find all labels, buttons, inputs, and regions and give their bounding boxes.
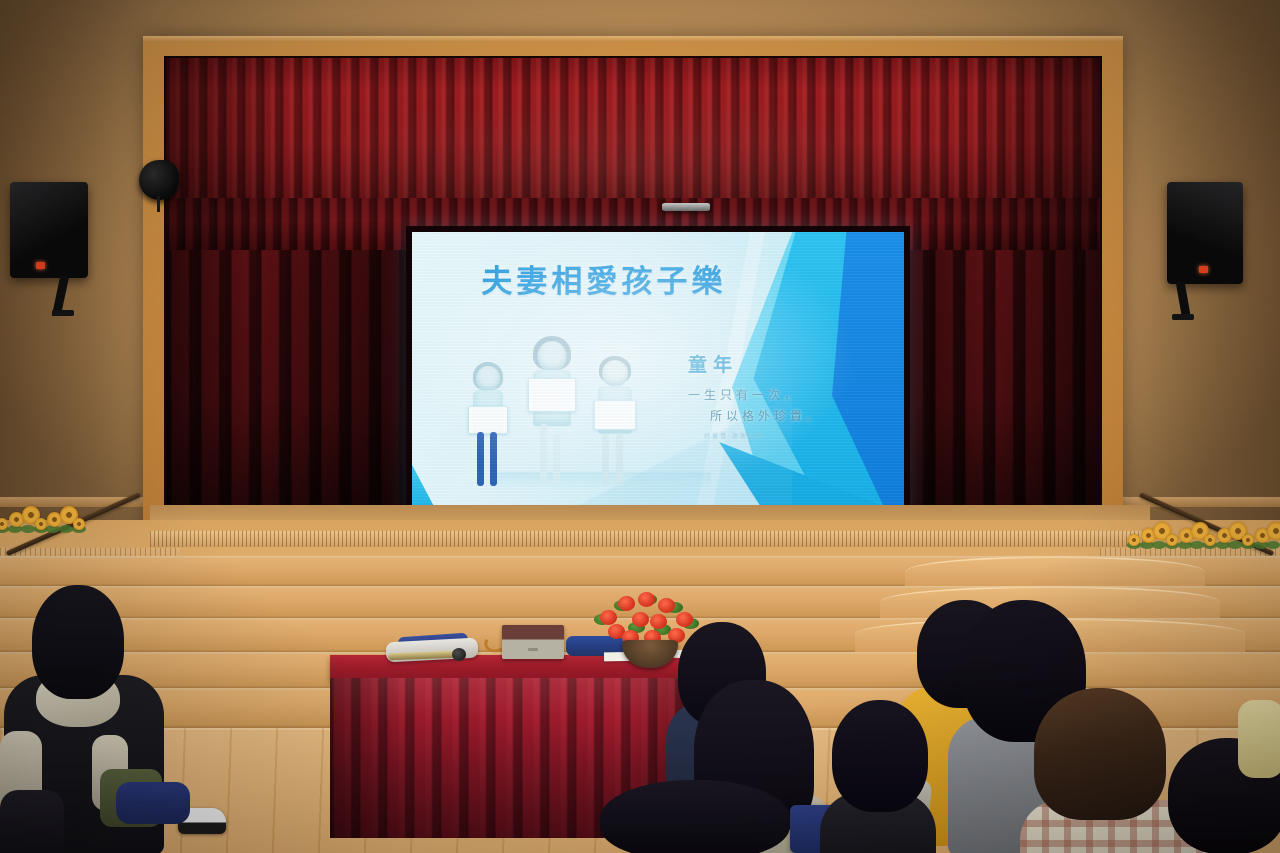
proscenium-highlight — [143, 36, 1123, 42]
ceiling-light-fixture — [662, 203, 710, 211]
center-riser-top — [905, 556, 1205, 586]
child-center — [522, 336, 582, 486]
flower-leaf — [21, 525, 35, 533]
slide-quote-credit: 好童懂·謝謝童真 — [704, 431, 838, 440]
child-center-head — [538, 341, 567, 371]
slide-quote-line1: 一生只有一次， — [688, 386, 838, 403]
flower-bloom — [35, 518, 47, 530]
audience-member-10 — [600, 780, 790, 853]
flower-bloom — [1204, 534, 1216, 546]
child-right-card — [594, 400, 636, 430]
flower-bloom — [1267, 522, 1280, 540]
table-item-laptop — [502, 625, 564, 659]
table-item-laptop-logo — [528, 648, 538, 651]
bouquet-flower — [638, 592, 655, 607]
curtain-valance-shading — [166, 58, 1100, 198]
slide-photo-children — [460, 336, 650, 486]
speaker-left — [10, 182, 88, 278]
child-left-card — [468, 406, 508, 434]
child-left-leg-r — [490, 432, 497, 486]
child-right-leg-r — [616, 434, 623, 486]
bouquet-flower — [658, 598, 675, 613]
stage-apron-trim — [150, 531, 1150, 547]
flower-leaf — [1266, 541, 1280, 549]
slide-title: 夫妻相愛孩子樂 — [412, 256, 796, 301]
bouquet-flower — [618, 596, 635, 611]
child-left — [464, 362, 512, 486]
speaker-left-mount — [52, 310, 74, 316]
bouquet-flower — [632, 612, 649, 627]
audience-member-1-hair — [32, 585, 124, 699]
audience-member-4 — [820, 700, 940, 853]
child-right-leg-l — [602, 434, 609, 486]
slide-quote-line2: 所以格外珍貴。 — [710, 407, 838, 424]
child-center-card — [528, 378, 576, 412]
slide-quote-heading: 童年 — [688, 350, 838, 377]
speaker-right-mount — [1172, 314, 1194, 320]
audience-member-10-hair — [600, 780, 790, 853]
projection-screen: 夫妻相愛孩子樂 — [412, 232, 904, 514]
child-center-leg-l — [540, 424, 547, 486]
child-center-leg-r — [553, 434, 560, 486]
flower-row-right — [1128, 524, 1280, 546]
bouquet-flower — [600, 610, 617, 625]
auditorium-photo: 夫妻相愛孩子樂 — [0, 0, 1280, 853]
flower-bloom — [1242, 534, 1254, 546]
table-item-microphone-head — [452, 648, 466, 661]
slide-quote: 童年 一生只有一次， 所以格外珍貴。 好童懂·謝謝童真 — [688, 350, 838, 440]
audience-member-1-partner — [0, 790, 64, 853]
speaker-left-led — [36, 262, 45, 269]
stage-light-fixture — [139, 160, 179, 200]
audience-member-7-hair — [1034, 688, 1166, 820]
flower-bloom — [1166, 534, 1178, 546]
child-left-leg-l — [477, 432, 484, 486]
child-left-head — [476, 366, 500, 391]
speaker-right-led — [1199, 266, 1208, 273]
flower-row-left — [0, 508, 86, 530]
child-right — [588, 356, 642, 486]
flower-bloom — [1128, 534, 1140, 546]
audience-member-1-knee — [116, 782, 190, 824]
stage-light-stem — [157, 196, 160, 212]
audience-member-4-hair — [832, 700, 928, 812]
child-right-head — [602, 360, 628, 386]
audience-member-9-sleeve — [1238, 700, 1280, 778]
